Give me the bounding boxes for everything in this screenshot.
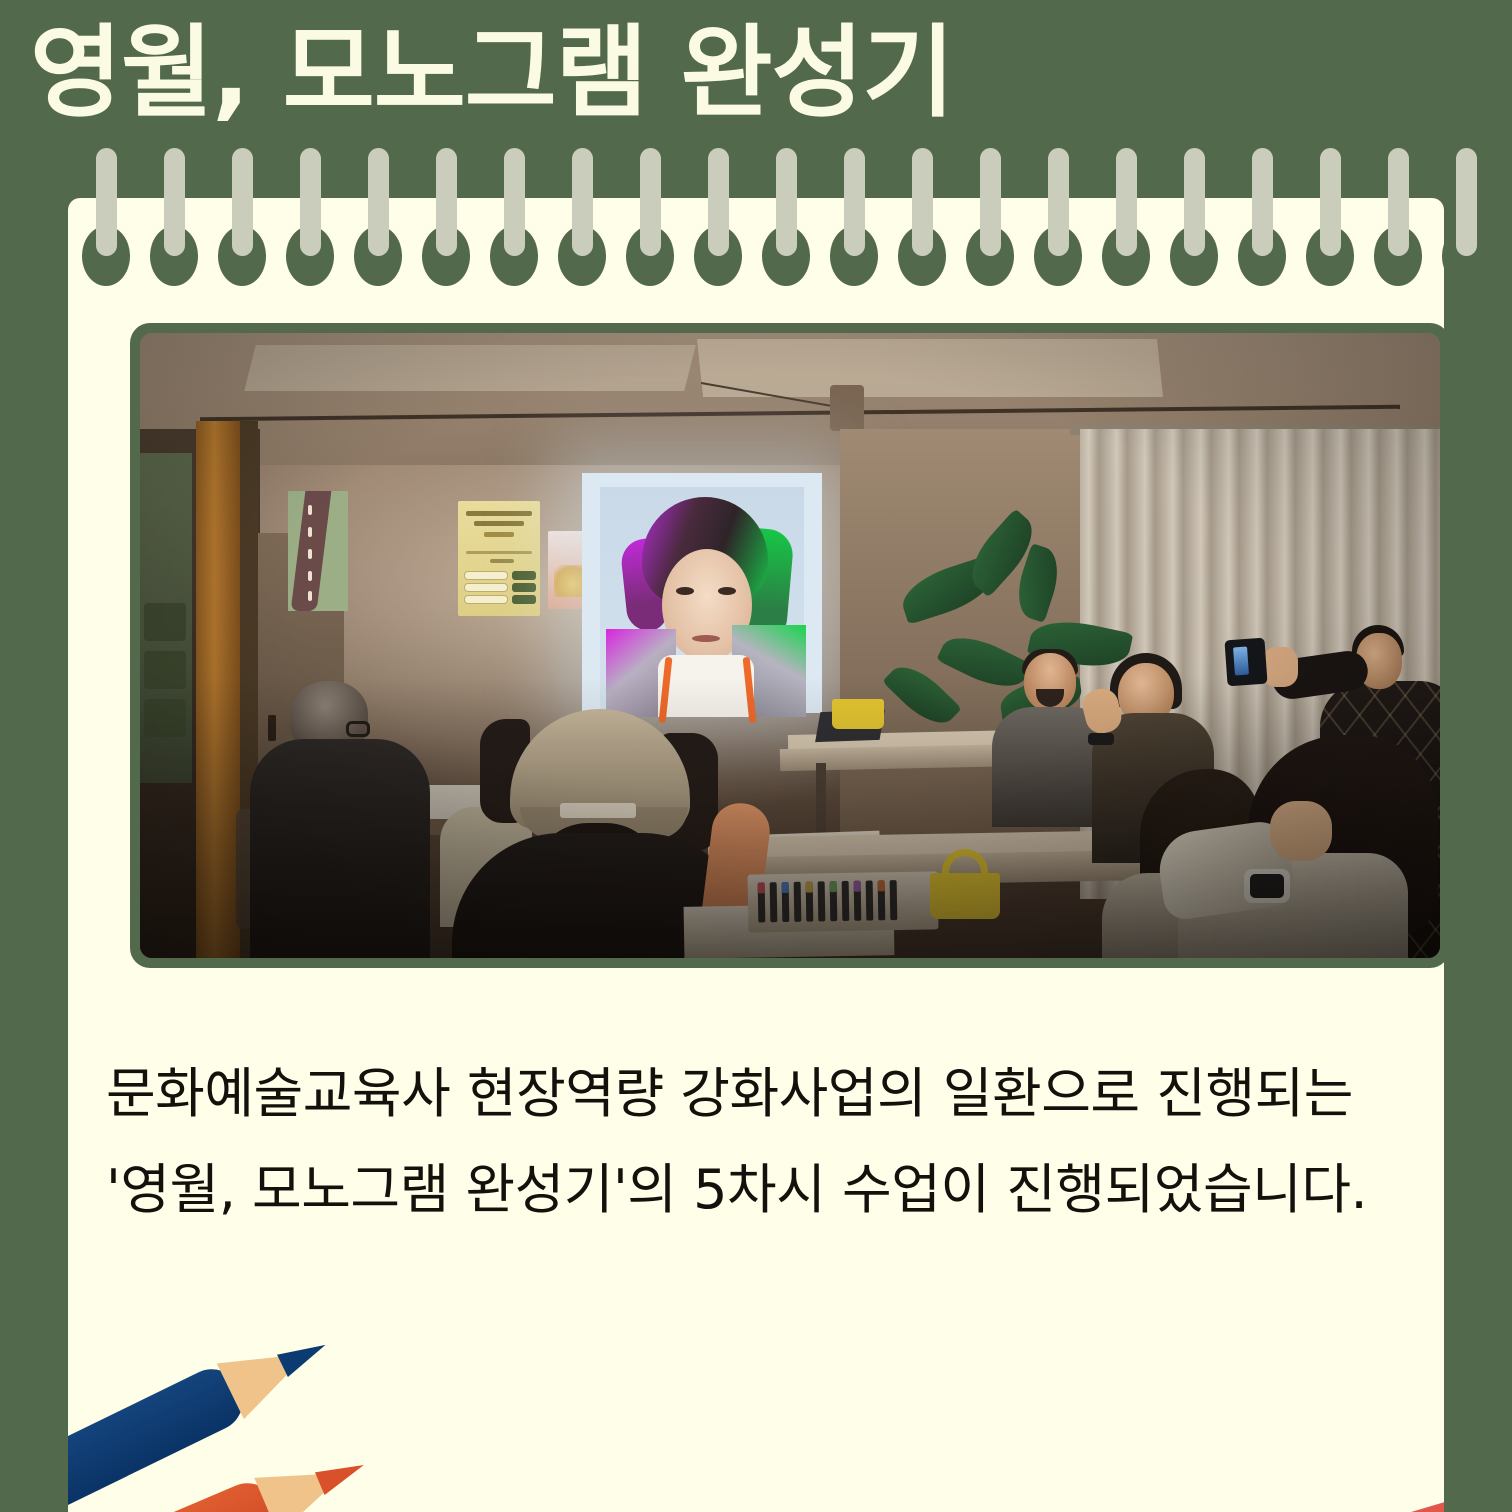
marker-tray <box>748 871 939 932</box>
eraser <box>1287 1463 1444 1512</box>
smartphone-screen <box>1233 647 1249 676</box>
participant-phone-hand <box>1262 647 1298 687</box>
yellow-wall-poster <box>458 501 540 616</box>
green-road-banner <box>288 491 348 611</box>
classroom-photo <box>140 333 1440 958</box>
door-poster <box>140 453 192 783</box>
smartwatch-face <box>1250 874 1284 898</box>
orange-pencil-tip <box>308 1436 376 1512</box>
caption-line-1: 문화예술교육사 현장역량 강화사업의 일환으로 진행되는 <box>106 1046 1406 1142</box>
participant-left-glasses <box>346 721 370 737</box>
yellow-basket-front <box>930 873 1000 919</box>
caption-block: 문화예술교육사 현장역량 강화사업의 일환으로 진행되는 '영월, 모노그램 완… <box>106 1046 1406 1238</box>
photo-frame <box>130 323 1444 968</box>
projected-portrait <box>600 487 804 713</box>
notebook-card: 문화예술교육사 현장역량 강화사업의 일환으로 진행되는 '영월, 모노그램 완… <box>68 198 1444 1512</box>
spiral-ring <box>1456 148 1477 256</box>
eraser-rubber <box>1353 1463 1444 1512</box>
page-title: 영월, 모노그램 완성기 <box>30 14 1330 134</box>
door-handle <box>268 715 276 741</box>
participant-left-body <box>250 739 430 958</box>
spiral-hole <box>1442 226 1490 286</box>
projection-screen <box>582 473 822 713</box>
ceiling-panel <box>697 339 1163 397</box>
ceiling-speaker <box>830 385 864 431</box>
participant-frontright-hand <box>1270 801 1332 861</box>
cap-strap <box>560 803 636 818</box>
participant-woman-watch <box>1088 733 1114 745</box>
yellow-basket-back <box>832 699 884 729</box>
portrait-shirt <box>658 655 754 717</box>
caption-line-2: '영월, 모노그램 완성기'의 5차시 수업이 진행되었습니다. <box>106 1142 1406 1238</box>
portrait-mouth <box>692 635 720 642</box>
ceiling-panel <box>244 345 695 391</box>
